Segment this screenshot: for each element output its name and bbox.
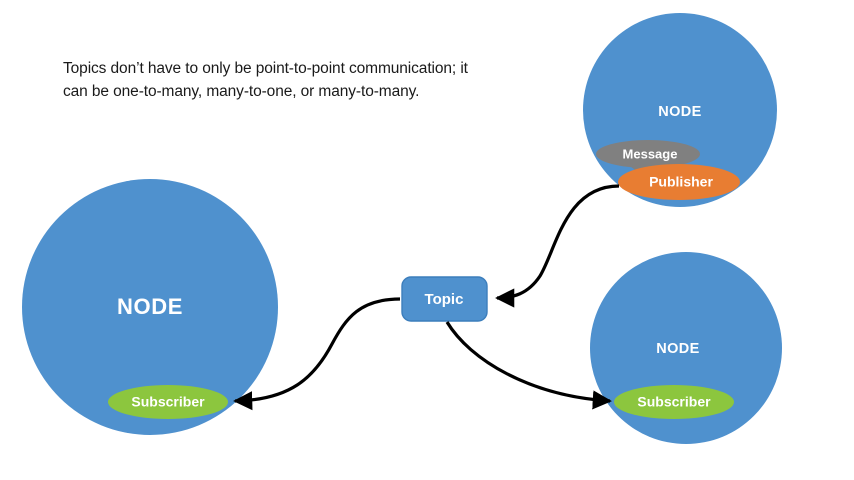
node-bottom-right[interactable]: NODE Subscriber	[590, 252, 782, 444]
arrow-topic-to-subscriber-bottom-right	[447, 322, 610, 401]
topic-box[interactable]: Topic	[402, 277, 487, 321]
diagram-canvas: Topics don’t have to only be point-to-po…	[0, 0, 854, 480]
topic-label: Topic	[425, 291, 464, 308]
subscriber-left[interactable]: Subscriber	[108, 385, 228, 419]
subscriber-bottom-right[interactable]: Subscriber	[614, 385, 734, 419]
publisher-top-right[interactable]: Publisher	[618, 164, 740, 200]
node-top-right[interactable]: NODE Message Publisher	[583, 13, 777, 207]
publisher-label: Publisher	[649, 174, 713, 190]
subscriber-bottom-right-label: Subscriber	[637, 394, 711, 410]
node-top-right-label: NODE	[658, 104, 702, 120]
subscriber-left-label: Subscriber	[131, 394, 205, 410]
diagram-graphics: NODE Subscriber NODE Message Publisher	[0, 0, 854, 480]
node-bottom-right-label: NODE	[656, 341, 700, 357]
arrow-publisher-to-topic	[497, 186, 619, 298]
node-left-label: NODE	[117, 294, 183, 319]
node-left[interactable]: NODE Subscriber	[22, 179, 278, 435]
message-label: Message	[623, 146, 678, 161]
